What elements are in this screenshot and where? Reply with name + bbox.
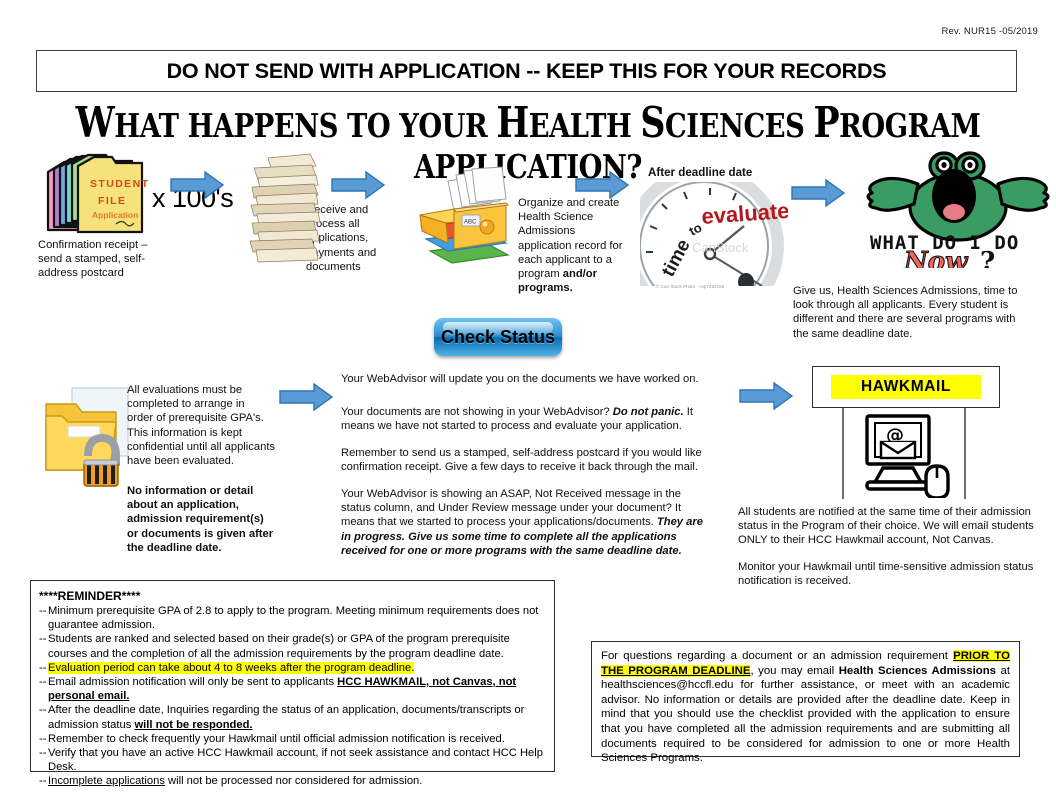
frog-cartoon-icon: WHAT DO I DO Now ?: [858, 144, 1056, 268]
flow-arrow-1-icon: [169, 170, 225, 200]
reminder-dash: --: [39, 774, 46, 788]
svg-text:FILE: FILE: [98, 195, 126, 207]
reminder-dash: --: [39, 732, 46, 746]
row2-mid-p4-a: Your WebAdvisor is showing an ASAP, Not …: [341, 488, 681, 528]
row2-mid-p2-emph: Do not panic.: [613, 406, 684, 418]
row2-mid-p2: Your documents are not showing in your W…: [341, 405, 713, 433]
check-status-button[interactable]: Check Status: [434, 318, 562, 356]
reminder-item: --Verify that you have an active HCC Haw…: [39, 746, 546, 774]
reminder-text: Students are ranked and selected based o…: [48, 633, 510, 659]
reminder-text: Remember to check frequently your Hawkma…: [48, 733, 505, 745]
row2-left-p3: No information or detail about an applic…: [127, 484, 277, 555]
hawkmail-box: HAWKMAIL: [812, 366, 1000, 408]
step1-caption: Confirmation receipt – send a stamped, s…: [38, 238, 150, 281]
reminder-dash: --: [39, 675, 46, 689]
flow-arrow-4-icon: [790, 178, 846, 208]
reminder-dash: --: [39, 604, 46, 618]
hawkmail-label: HAWKMAIL: [831, 375, 981, 399]
reminder-text: will not be processed nor considered for…: [165, 775, 422, 787]
row2-left-p1: All evaluations must be completed to arr…: [127, 383, 272, 426]
row2-right-p2: Monitor your Hawkmail until time-sensiti…: [738, 560, 1038, 588]
row2-mid-p3: Remember to send us a stamped, self-addr…: [341, 446, 713, 474]
reminder-text: After the deadline date, Inquiries regar…: [48, 704, 524, 730]
row2-mid-p4: Your WebAdvisor is showing an ASAP, Not …: [341, 487, 713, 558]
svg-text:?: ?: [980, 247, 995, 268]
reminder-text-highlighted: Evaluation period can take about 4 to 8 …: [48, 662, 414, 674]
row2-right-p1: All students are notified at the same ti…: [738, 505, 1038, 548]
svg-text:Now: Now: [903, 247, 969, 268]
row2-left-p2: This information is kept confidential un…: [127, 426, 277, 469]
reminder-items-list: --Minimum prerequisite GPA of 2.8 to app…: [39, 604, 546, 789]
reminder-item: --Incomplete applications will not be pr…: [39, 774, 546, 788]
reminder-dash: --: [39, 661, 46, 675]
flow-arrow-5-icon: [278, 382, 334, 412]
reminder-dash: --: [39, 632, 46, 646]
flow-arrow-3-icon: [574, 170, 630, 200]
step5-caption: Give us, Health Sciences Admissions, tim…: [793, 284, 1030, 341]
clock-credit: © Can Stock Photo - csp7292156: [656, 280, 724, 294]
student-file-folders-icon: STUDENT FILE Application: [38, 152, 150, 244]
questions-box: For questions regarding a document or an…: [591, 641, 1020, 757]
reminder-item: --Email admission notification will only…: [39, 675, 546, 703]
svg-text:Application: Application: [92, 210, 138, 220]
questions-paragraph: For questions regarding a document or an…: [601, 649, 1010, 766]
reminder-text-emphasis: Incomplete applications: [48, 775, 165, 787]
row2-mid-p1: Your WebAdvisor will update you on the d…: [341, 372, 713, 386]
q-seg1: For questions regarding a document or an…: [601, 650, 953, 662]
flow-arrow-6-icon: [738, 381, 794, 411]
paper-stack-icon: [246, 152, 324, 270]
file-drawer-icon: ABC: [404, 163, 516, 275]
svg-text:ABC: ABC: [464, 220, 477, 226]
q-bold: Health Sciences Admissions: [839, 665, 996, 677]
reminder-dash: --: [39, 746, 46, 760]
clock-evaluate-icon: time to evaluate CanStock: [640, 182, 788, 286]
computer-email-icon: @: [845, 412, 963, 498]
reminder-item: --Remember to check frequently your Hawk…: [39, 732, 546, 746]
svg-text:CanStock: CanStock: [692, 240, 749, 255]
reminder-text: Email admission notification will only b…: [48, 676, 337, 688]
flow-arrow-2-icon: [330, 170, 386, 200]
banner-text: DO NOT SEND WITH APPLICATION -- KEEP THI…: [167, 59, 887, 84]
reminder-title: ****REMINDER****: [39, 589, 546, 603]
reminder-dash: --: [39, 703, 46, 717]
reminder-item: --Evaluation period can take about 4 to …: [39, 661, 546, 675]
row2-mid-p2-a: Your documents are not showing in your W…: [341, 406, 613, 418]
reminder-text-emphasis: will not be responded.: [134, 719, 252, 731]
reminder-item: --Students are ranked and selected based…: [39, 632, 546, 660]
reminder-text: Verify that you have an active HCC Hawkm…: [48, 747, 543, 773]
reminder-text: Minimum prerequisite GPA of 2.8 to apply…: [48, 605, 538, 631]
reminder-item: --After the deadline date, Inquiries reg…: [39, 703, 546, 731]
top-banner: DO NOT SEND WITH APPLICATION -- KEEP THI…: [36, 50, 1017, 92]
svg-text:STUDENT: STUDENT: [90, 178, 149, 190]
reminder-box: ****REMINDER**** --Minimum prerequisite …: [30, 580, 555, 772]
q-seg5: at healthsciences@hccfl.edu for further …: [601, 665, 1010, 765]
check-status-label: Check Status: [441, 327, 555, 348]
q-seg3: , you may email: [750, 665, 838, 677]
revision-label: Rev. NUR15 -05/2019: [941, 26, 1038, 37]
step3-caption: Organize and create Health Science Admis…: [518, 196, 626, 295]
reminder-item: --Minimum prerequisite GPA of 2.8 to app…: [39, 604, 546, 632]
